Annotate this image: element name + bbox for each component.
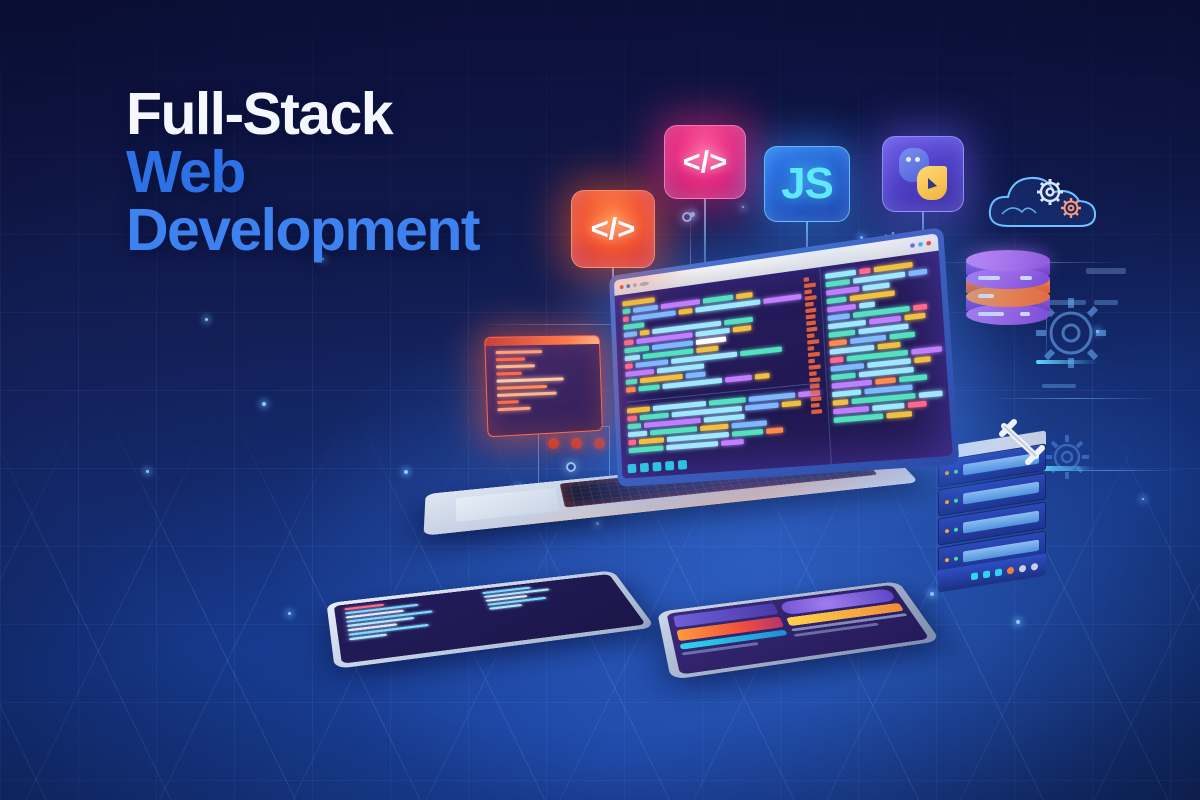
laptop-trackpad xyxy=(456,488,560,522)
error-line xyxy=(497,392,557,397)
minimap-bar xyxy=(809,364,821,369)
error-line xyxy=(496,364,535,368)
code-token xyxy=(833,399,849,406)
tablet-column-right xyxy=(482,578,634,639)
code-token xyxy=(686,371,706,378)
code-token xyxy=(628,440,636,446)
error-console-window[interactable] xyxy=(484,335,603,437)
cloud-gears-icon xyxy=(984,168,1102,238)
error-line xyxy=(496,357,525,361)
code-token xyxy=(626,379,638,385)
minimap-bar xyxy=(806,320,816,325)
code-token xyxy=(831,373,856,381)
minimap-bar xyxy=(806,327,817,332)
code-token xyxy=(624,340,634,346)
minimap-bar xyxy=(804,289,812,294)
badge-html-code[interactable]: </> xyxy=(571,190,655,268)
error-line xyxy=(497,407,530,412)
code-token xyxy=(832,389,861,397)
code-token xyxy=(908,269,927,277)
code-token xyxy=(635,359,668,368)
code-token xyxy=(679,308,693,315)
code-token xyxy=(831,363,865,372)
code-token xyxy=(700,424,729,432)
code-token xyxy=(830,357,844,364)
code-token xyxy=(899,374,927,382)
code-token xyxy=(626,387,636,393)
tablet-column-left xyxy=(344,593,492,658)
code-token xyxy=(625,369,654,377)
page-title: Full-Stack Web Development xyxy=(126,86,479,259)
code-token xyxy=(911,346,942,355)
code-token xyxy=(908,401,927,408)
code-token xyxy=(736,292,753,299)
code-token xyxy=(623,322,644,330)
code-token xyxy=(872,403,904,411)
code-token xyxy=(696,336,726,345)
code-token xyxy=(709,397,746,406)
code-token xyxy=(919,390,943,398)
minimap-bar xyxy=(810,390,820,395)
code-token xyxy=(833,406,869,415)
code-brackets-icon: </> xyxy=(591,211,636,247)
minimap-bar xyxy=(805,302,814,307)
badge-javascript[interactable]: JS xyxy=(764,146,850,222)
code-token xyxy=(869,316,901,325)
window-dots-left[interactable] xyxy=(620,281,649,289)
left-code-pane[interactable] xyxy=(615,267,831,478)
code-token xyxy=(704,414,745,423)
code-token xyxy=(625,355,640,362)
code-token xyxy=(725,375,752,383)
code-token xyxy=(745,402,779,410)
minimap-bar xyxy=(809,377,820,382)
code-token xyxy=(766,427,783,434)
error-line xyxy=(497,377,564,382)
code-token xyxy=(696,345,718,353)
error-line xyxy=(496,372,521,376)
code-token xyxy=(639,437,664,444)
minimap-bar xyxy=(805,308,816,314)
wrench-tools-icon xyxy=(992,412,1048,468)
code-token xyxy=(625,363,633,369)
code-token xyxy=(627,416,637,422)
code-token xyxy=(914,356,931,363)
code-token xyxy=(629,445,664,453)
minimap-bar xyxy=(810,396,821,401)
code-token xyxy=(628,423,642,429)
code-token xyxy=(623,308,631,314)
code-token xyxy=(640,330,650,336)
code-token xyxy=(832,380,872,389)
title-line-1: Full-Stack xyxy=(126,86,479,144)
minimap-bar xyxy=(806,314,816,319)
code-editor-screen xyxy=(614,233,953,479)
title-line-3: Development xyxy=(126,202,479,260)
minimap-bar xyxy=(804,282,816,288)
minimap-bar xyxy=(808,359,815,364)
code-lines-right xyxy=(825,259,946,423)
minimap-bar xyxy=(805,295,817,301)
code-token xyxy=(859,268,871,275)
code-token xyxy=(834,413,884,423)
error-console-title-bar xyxy=(485,336,599,346)
minimap-bar xyxy=(807,333,815,338)
code-token xyxy=(875,377,896,384)
bottom-terminal-pane[interactable] xyxy=(627,383,823,457)
code-token xyxy=(724,317,753,326)
minimap-bar xyxy=(807,339,819,345)
code-token xyxy=(829,330,856,338)
code-lines-left xyxy=(622,275,819,395)
error-console-lines xyxy=(496,349,592,411)
code-token xyxy=(827,304,856,313)
minimap-bar xyxy=(811,403,820,408)
code-token xyxy=(826,279,850,287)
minimap-bar xyxy=(809,371,817,376)
code-lines-terminal xyxy=(627,390,823,453)
badge-css-code[interactable]: </> xyxy=(664,125,746,199)
minimap-bar xyxy=(804,277,810,282)
code-token xyxy=(624,331,637,338)
code-token xyxy=(640,413,669,421)
code-token xyxy=(623,316,629,322)
code-token xyxy=(782,400,802,407)
python-icon xyxy=(897,148,949,200)
code-token xyxy=(733,325,752,332)
code-token xyxy=(633,305,658,313)
code-token xyxy=(624,346,649,354)
minimap-bar xyxy=(808,346,815,351)
minimap-bar xyxy=(808,352,820,358)
gear-icon xyxy=(1040,430,1094,484)
database-stack-icon xyxy=(966,250,1050,326)
code-token xyxy=(877,342,900,350)
minimap-bar xyxy=(810,384,820,389)
code-token xyxy=(886,411,912,419)
code-token xyxy=(638,384,659,391)
code-token xyxy=(862,282,889,291)
title-line-2: Web xyxy=(126,144,479,202)
code-token xyxy=(732,429,763,437)
code-token xyxy=(628,431,647,438)
right-code-pane[interactable] xyxy=(819,250,953,464)
code-token xyxy=(827,296,847,304)
window-dots-right[interactable] xyxy=(910,241,931,248)
code-token xyxy=(721,439,744,446)
code-token xyxy=(828,313,850,321)
code-token xyxy=(829,339,847,346)
javascript-icon: JS xyxy=(781,159,833,209)
code-token xyxy=(913,304,927,311)
code-token xyxy=(731,420,767,428)
code-token xyxy=(889,331,915,339)
code-token xyxy=(627,406,650,413)
error-line xyxy=(496,350,542,354)
code-token xyxy=(904,313,925,321)
code-token xyxy=(666,441,718,450)
code-token xyxy=(859,301,875,308)
badge-python[interactable] xyxy=(882,136,964,212)
error-line xyxy=(497,385,547,390)
error-line xyxy=(497,400,519,404)
editor-status-bar[interactable] xyxy=(627,460,687,473)
code-token xyxy=(850,335,886,344)
hero-illustration: Full-Stack Web Development </> </> JS xyxy=(0,0,1200,800)
code-brackets-icon: </> xyxy=(683,144,728,180)
code-token xyxy=(755,373,770,380)
